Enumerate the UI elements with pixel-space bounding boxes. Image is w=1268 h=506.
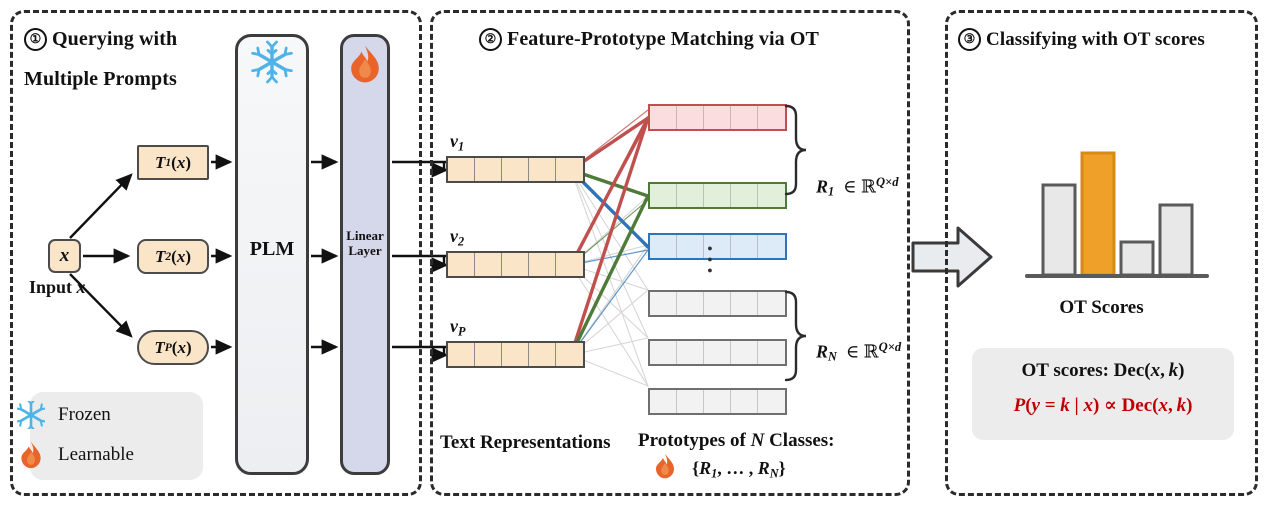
text-representations-caption: Text Representations	[440, 432, 610, 454]
prototype-group-label-rn: RN ∈ ℝQ×d	[816, 340, 901, 365]
proto-cell	[758, 390, 785, 413]
proto-cell	[758, 292, 785, 315]
proto-cell	[677, 390, 704, 413]
rn-sub: N	[828, 350, 837, 364]
vector-label-v1: v1	[450, 131, 464, 154]
vec-cell	[556, 343, 583, 366]
panel3-title-text: Classifying with OT scores	[986, 29, 1205, 50]
panel2-title-text: Feature-Prototype Matching via OT	[507, 28, 819, 50]
r1-superscript: Q×d	[876, 175, 899, 189]
proto-cell	[650, 184, 677, 207]
vec-cell	[502, 253, 529, 276]
ot-formula-line2: P(y = k | x) ∝ Dec(x, k)	[972, 394, 1234, 417]
snowflake-icon	[17, 401, 45, 429]
vec-cell	[556, 253, 583, 276]
proto-cell	[758, 184, 785, 207]
proto-cell	[677, 292, 704, 315]
vec-cell	[529, 253, 556, 276]
vec-cell	[556, 158, 583, 181]
panel1-title-line1: ①Querying with	[24, 28, 177, 51]
panel2-step-number: ②	[479, 28, 502, 51]
flame-icon	[17, 441, 45, 469]
panel1-title-text1: Querying with	[52, 28, 177, 50]
proto-cell	[650, 235, 677, 258]
proto-cell	[650, 341, 677, 364]
panel1-title-line2: Multiple Prompts	[24, 68, 177, 91]
vector-label-vp: vP	[450, 316, 465, 339]
proto-cell	[758, 235, 785, 258]
legend-item-learnable: Learnable	[17, 441, 134, 469]
ot-formula-line1: OT scores: Dec(x, k)	[972, 360, 1234, 382]
proto-cell	[731, 184, 758, 207]
vec-cell	[448, 343, 475, 366]
prototype-group-label-r1: R1 ∈ ℝQ×d	[816, 175, 899, 200]
input-x-label: Input x	[29, 277, 86, 298]
vec-cell	[475, 158, 502, 181]
prototypes-set-notation: {R1, … , RN}	[692, 458, 786, 481]
prototype-row-rn-2	[648, 339, 787, 366]
linear-label-line1: Linear	[346, 228, 384, 243]
prompt-template-2-box: T2(x)	[137, 239, 209, 274]
legend-label-frozen: Frozen	[58, 404, 111, 426]
vec-cell	[502, 158, 529, 181]
legend-item-frozen: Frozen	[17, 401, 111, 429]
panel3-step-number: ③	[958, 28, 981, 51]
rn-superscript: Q×d	[879, 340, 902, 354]
rn-symbol: R	[816, 341, 828, 361]
proto-cell	[704, 390, 731, 413]
proto-cell	[704, 106, 731, 129]
vec-cell	[502, 343, 529, 366]
vec-cell	[475, 253, 502, 276]
proto-cell	[704, 292, 731, 315]
linear-label-line2: Layer	[348, 243, 381, 258]
vp-sub: P	[458, 324, 465, 338]
proto-cell	[731, 292, 758, 315]
proto-cell	[731, 106, 758, 129]
proto-cell	[650, 292, 677, 315]
proto-cell	[758, 341, 785, 364]
proto-cell	[731, 235, 758, 258]
vec-cell	[529, 158, 556, 181]
panel2-title: ②Feature-Prototype Matching via OT	[479, 28, 819, 51]
v2-sub: 2	[458, 234, 464, 248]
proto-cell	[731, 390, 758, 413]
r1-symbol: R	[816, 176, 828, 196]
v1-name: v	[450, 131, 458, 151]
proto-cell	[704, 341, 731, 364]
prototype-vertical-ellipsis: ●●●	[690, 243, 730, 276]
proto-cell	[677, 341, 704, 364]
proto-cell	[704, 184, 731, 207]
proto-cell	[677, 184, 704, 207]
proto-cell	[758, 106, 785, 129]
ot-scores-caption: OT Scores	[945, 297, 1258, 319]
text-representation-v1	[446, 156, 585, 183]
prototype-row-rn-1	[648, 290, 787, 317]
v2-name: v	[450, 226, 458, 246]
vec-cell	[475, 343, 502, 366]
proto-cell	[650, 390, 677, 413]
panel1-step-number: ①	[24, 28, 47, 51]
plm-label: PLM	[235, 238, 309, 261]
prompt-template-p-box: TP(x)	[137, 330, 209, 365]
vec-cell	[529, 343, 556, 366]
prototype-row-rn-3	[648, 388, 787, 415]
proto-cell	[731, 341, 758, 364]
panel3-title: ③Classifying with OT scores	[958, 28, 1205, 51]
prototype-row-r1-green	[648, 182, 787, 209]
prompt-template-1-box: T1(x)	[137, 145, 209, 180]
vector-label-v2: v2	[450, 226, 464, 249]
proto-cell	[650, 106, 677, 129]
vec-cell	[448, 253, 475, 276]
prototypes-caption: Prototypes of N Classes:	[638, 430, 835, 452]
proto-cell	[677, 106, 704, 129]
vp-name: v	[450, 316, 458, 336]
input-x-box: x	[48, 239, 81, 273]
r1-sub: 1	[828, 185, 834, 199]
legend-label-learnable: Learnable	[58, 444, 134, 466]
prototype-row-r1-red	[648, 104, 787, 131]
text-representation-vp	[446, 341, 585, 368]
v1-sub: 1	[458, 139, 464, 153]
figure-canvas: ①Querying with Multiple Prompts	[0, 0, 1268, 506]
text-representation-v2	[446, 251, 585, 278]
linear-layer-label: Linear Layer	[340, 228, 390, 258]
vec-cell	[448, 158, 475, 181]
